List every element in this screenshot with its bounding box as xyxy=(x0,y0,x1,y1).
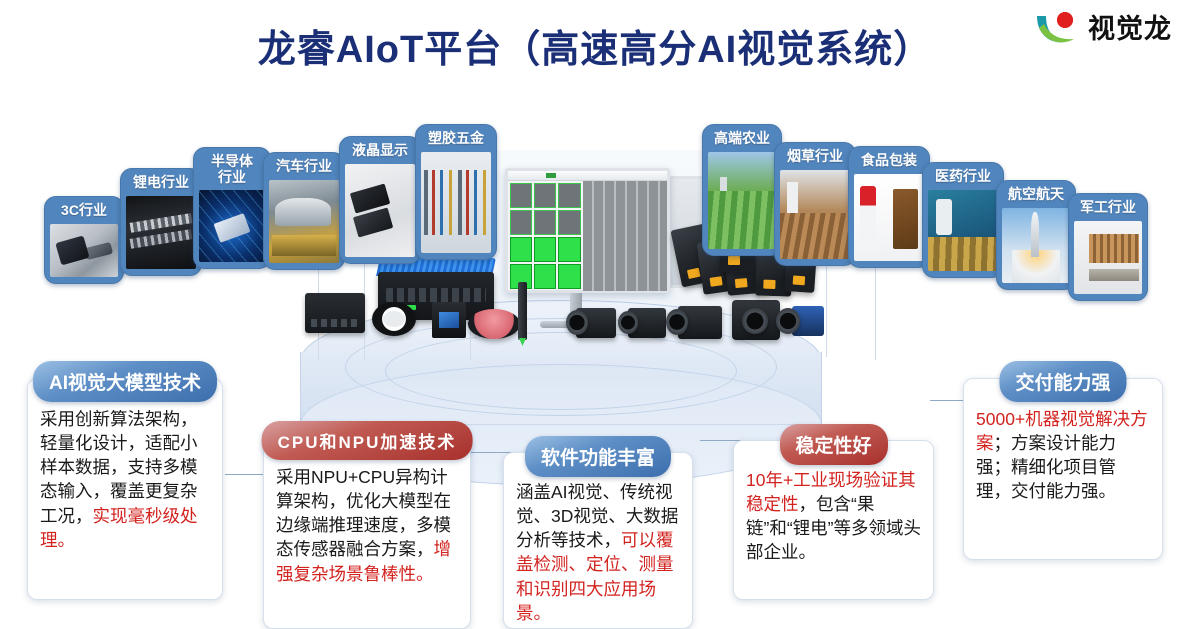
industry-tag-thumbnail xyxy=(199,190,265,262)
industry-tag-label: 烟草行业 xyxy=(787,149,843,165)
industry-tag-label: 液晶显示 xyxy=(352,143,408,159)
industry-tag-thumbnail xyxy=(854,174,924,261)
feature-card-header: 交付能力强 xyxy=(999,361,1126,402)
industry-tag-thumbnail xyxy=(1074,221,1142,294)
industry-tag-thumbnail xyxy=(708,152,776,249)
monitor-left-pane xyxy=(508,181,583,291)
inspection-monitor xyxy=(505,168,670,293)
platform-ring-inner xyxy=(385,332,737,410)
industry-tag-thumbnail xyxy=(1002,208,1070,283)
industry-tag-label: 食品包装 xyxy=(861,153,917,169)
industry-tag-food-packaging[interactable]: 食品包装 xyxy=(848,146,930,268)
feature-card-ai-vision-model[interactable]: AI视觉大模型技术 采用创新算法架构，轻量化设计，适配小样本数据，支持多模态输入… xyxy=(27,378,223,600)
industry-tag-agriculture[interactable]: 高端农业 xyxy=(702,124,782,256)
logo-text: 视觉龙 xyxy=(1088,7,1172,46)
industry-tag-lithium-battery[interactable]: 锂电行业 xyxy=(120,168,202,276)
feature-card-delivery-capability[interactable]: 交付能力强 5000+机器视觉解决方案；方案设计能力强；精细化项目管理，交付能力… xyxy=(963,378,1163,560)
industry-tag-label: 锂电行业 xyxy=(133,175,189,191)
feature-card-header: 稳定性好 xyxy=(779,424,887,465)
swoosh-logo-icon xyxy=(1034,6,1082,46)
industrial-pc-ports xyxy=(386,288,486,302)
camera-lens xyxy=(776,308,800,334)
feature-card-header: 软件功能丰富 xyxy=(525,436,671,477)
camera-lens xyxy=(666,309,688,335)
feature-card-header: AI视觉大模型技术 xyxy=(33,361,217,402)
industry-tag-label: 军工行业 xyxy=(1080,200,1136,216)
edge-controller-box xyxy=(305,293,365,333)
industry-tag-label: 医药行业 xyxy=(935,169,991,185)
industry-tag-thumbnail xyxy=(421,152,491,253)
coaxial-light xyxy=(432,302,466,338)
industry-tag-thumbnail xyxy=(780,170,850,259)
feature-card-body: 采用NPU+CPU异构计算架构，优化大模型在边缘端推理速度，多模态传感器融合方案… xyxy=(264,439,470,586)
industry-tag-thumbnail xyxy=(50,224,118,277)
industry-tag-military[interactable]: 军工行业 xyxy=(1068,193,1148,301)
feature-card-cpu-npu-accel[interactable]: CPU和NPU加速技术 采用NPU+CPU异构计算架构，优化大模型在边缘端推理速… xyxy=(263,438,471,629)
feature-card-software-rich[interactable]: 软件功能丰富 涵盖AI视觉、传统视觉、3D视觉、大数据分析等技术，可以覆盖检测、… xyxy=(503,452,693,629)
camera-lens xyxy=(742,308,768,334)
dome-light xyxy=(468,309,520,339)
industry-tag-lcd-display[interactable]: 液晶显示 xyxy=(339,136,421,264)
industry-tag-thumbnail xyxy=(269,180,339,263)
industry-tag-thumbnail xyxy=(345,164,415,257)
industry-tag-label: 高端农业 xyxy=(714,131,770,147)
industry-tag-label: 半导体 行业 xyxy=(211,154,253,185)
industry-tag-aerospace[interactable]: 航空航天 xyxy=(996,180,1076,290)
industry-tag-automotive[interactable]: 汽车行业 xyxy=(263,152,345,270)
industry-tag-thumbnail xyxy=(928,190,998,271)
page-title: 龙睿AIoT平台（高速高分AI视觉系统） xyxy=(0,18,1190,73)
industry-tag-label: 汽车行业 xyxy=(276,159,332,175)
camera-lens xyxy=(618,311,638,334)
industry-tag-semiconductor[interactable]: 半导体 行业 xyxy=(193,147,271,269)
monitor-toolbar xyxy=(508,171,667,181)
industry-tag-label: 塑胶五金 xyxy=(428,131,484,147)
industry-tag-tobacco[interactable]: 烟草行业 xyxy=(774,142,856,266)
monitor-right-pane xyxy=(583,181,667,291)
ring-light xyxy=(372,302,416,336)
feature-card-body: 采用创新算法架构，轻量化设计，适配小样本数据，支持多模态输入，覆盖更复杂工况，实… xyxy=(28,379,222,552)
industry-tag-pharmaceutical[interactable]: 医药行业 xyxy=(922,162,1004,278)
feature-card-stability-good[interactable]: 稳定性好 10年+工业现场验证其稳定性，包含“果链”和“锂电”等多领域头部企业。 xyxy=(733,440,934,600)
feature-card-header: CPU和NPU加速技术 xyxy=(262,421,473,460)
industry-tag-label: 航空航天 xyxy=(1008,187,1064,203)
feature-body-plain: ；方案设计能力强；精细化项目管理，交付能力强。 xyxy=(976,433,1116,501)
brand-logo: 视觉龙 xyxy=(1034,6,1172,46)
feature-body-plain: 采用NPU+CPU异构计算架构，优化大模型在边缘端推理速度，多模态传感器融合方案… xyxy=(276,467,451,559)
laser-probe xyxy=(518,282,527,340)
industry-tag-label: 3C行业 xyxy=(61,203,107,219)
feature-card-body: 涵盖AI视觉、传统视觉、3D视觉、大数据分析等技术，可以覆盖检测、定位、测量和识… xyxy=(504,453,692,625)
industry-tag-plastic-hardware[interactable]: 塑胶五金 xyxy=(415,124,497,260)
camera-lens xyxy=(566,310,588,335)
industry-tag-3c[interactable]: 3C行业 xyxy=(44,196,124,284)
slide-canvas: 龙睿AIoT平台（高速高分AI视觉系统） 视觉龙 xyxy=(0,0,1190,629)
industry-tag-thumbnail xyxy=(126,196,196,269)
